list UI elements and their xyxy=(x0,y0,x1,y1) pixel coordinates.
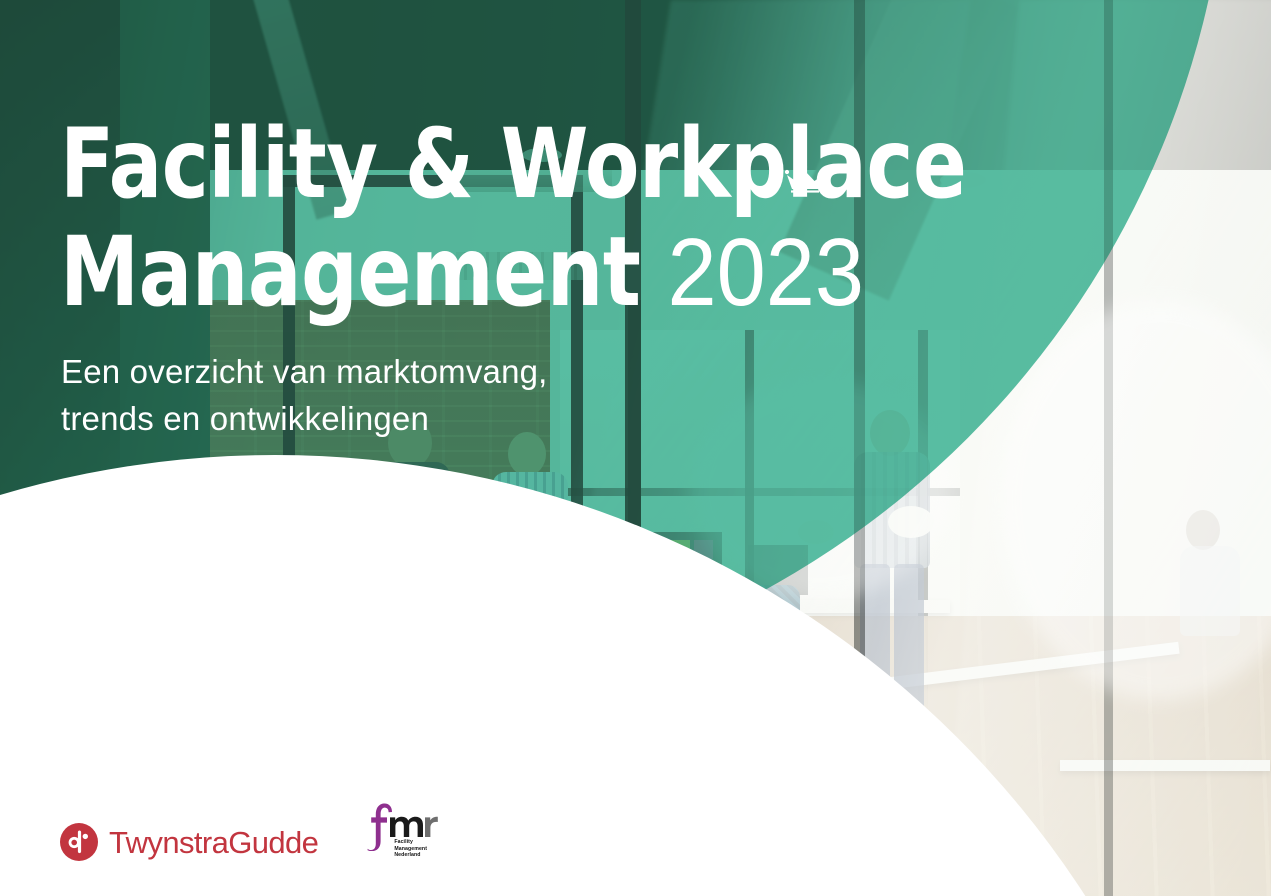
fmn-tagline-line1: Facility Management xyxy=(394,839,427,852)
fmn-tagline: Facility ManagementNederland xyxy=(394,839,438,859)
twynstragudde-logo[interactable]: TwynstraGudde xyxy=(60,823,318,861)
fmn-tagline-line2: Nederland xyxy=(394,852,420,858)
fmn-logo[interactable]: Facility ManagementNederland xyxy=(366,803,438,861)
page-title-line1: Facility & Workplace xyxy=(60,108,966,220)
page-subtitle-line2: trends en ontwikkelingen xyxy=(61,400,429,437)
crown-icon xyxy=(783,160,827,194)
page-title-line2-prefix: Management xyxy=(60,216,668,328)
page-title: Facility & WorkplaceManagement 2023 xyxy=(60,111,980,326)
logo-row: TwynstraGudde Facility ManagementNederla… xyxy=(60,803,438,861)
twynstragudde-wordmark: TwynstraGudde xyxy=(109,827,318,858)
page-subtitle-line1: Een overzicht van marktomvang, xyxy=(61,353,548,390)
page-subtitle: Een overzicht van marktomvang,trends en … xyxy=(61,349,681,443)
page-title-year: 2023 xyxy=(668,219,864,326)
cover-page: Facility & WorkplaceManagement 2023 Een … xyxy=(0,0,1271,896)
twynstragudde-circle-mark xyxy=(60,823,98,861)
